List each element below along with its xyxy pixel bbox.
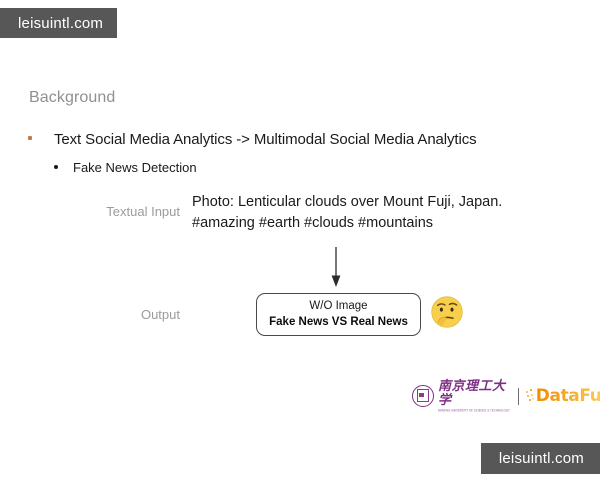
bullet-item-level1: Text Social Media Analytics -> Multimoda…: [28, 131, 477, 148]
textual-input-line-1: Photo: Lenticular clouds over Mount Fuji…: [192, 192, 502, 213]
university-seal-icon: [412, 385, 434, 407]
output-row-label: Output: [60, 307, 180, 322]
round-bullet-icon: [54, 165, 58, 169]
slide-canvas: leisuintl.com Background Text Social Med…: [0, 0, 600, 480]
datafun-brand-label: DataFun.: [536, 387, 600, 405]
datafun-dots-icon: [526, 389, 535, 403]
watermark-bottom-label: leisuintl.com: [499, 450, 584, 467]
output-result-box: W/O Image Fake News VS Real News: [256, 293, 421, 336]
logo-divider: [518, 388, 519, 405]
output-box-line-2: Fake News VS Real News: [269, 315, 408, 330]
textual-input-row-label: Textual Input: [60, 204, 180, 219]
watermark-top: leisuintl.com: [0, 8, 117, 38]
textual-input-line-2: #amazing #earth #clouds #mountains: [192, 213, 502, 234]
thinking-face-emoji: [429, 295, 465, 331]
bullet-level2-label: Fake News Detection: [73, 160, 197, 175]
square-bullet-icon: [28, 136, 32, 140]
textual-input-content: Photo: Lenticular clouds over Mount Fuji…: [192, 192, 502, 234]
watermark-top-label: leisuintl.com: [18, 15, 103, 32]
university-name-cn: 南京理工大学: [438, 380, 510, 408]
datafun-logo: DataFun.: [526, 387, 600, 405]
university-logo: 南京理工大学 NANJING UNIVERSITY OF SCIENCE & T…: [412, 380, 510, 413]
watermark-bottom: leisuintl.com: [481, 443, 600, 474]
footer-logo-row: 南京理工大学 NANJING UNIVERSITY OF SCIENCE & T…: [412, 379, 600, 413]
bullet-item-level2: Fake News Detection: [54, 160, 197, 175]
university-name-en: NANJING UNIVERSITY OF SCIENCE & TECHNOLO…: [438, 409, 510, 414]
page-title: Background: [29, 89, 115, 107]
bullet-level1-label: Text Social Media Analytics -> Multimoda…: [54, 131, 477, 148]
output-box-line-1: W/O Image: [309, 299, 367, 313]
arrow-down-icon: [328, 247, 344, 294]
